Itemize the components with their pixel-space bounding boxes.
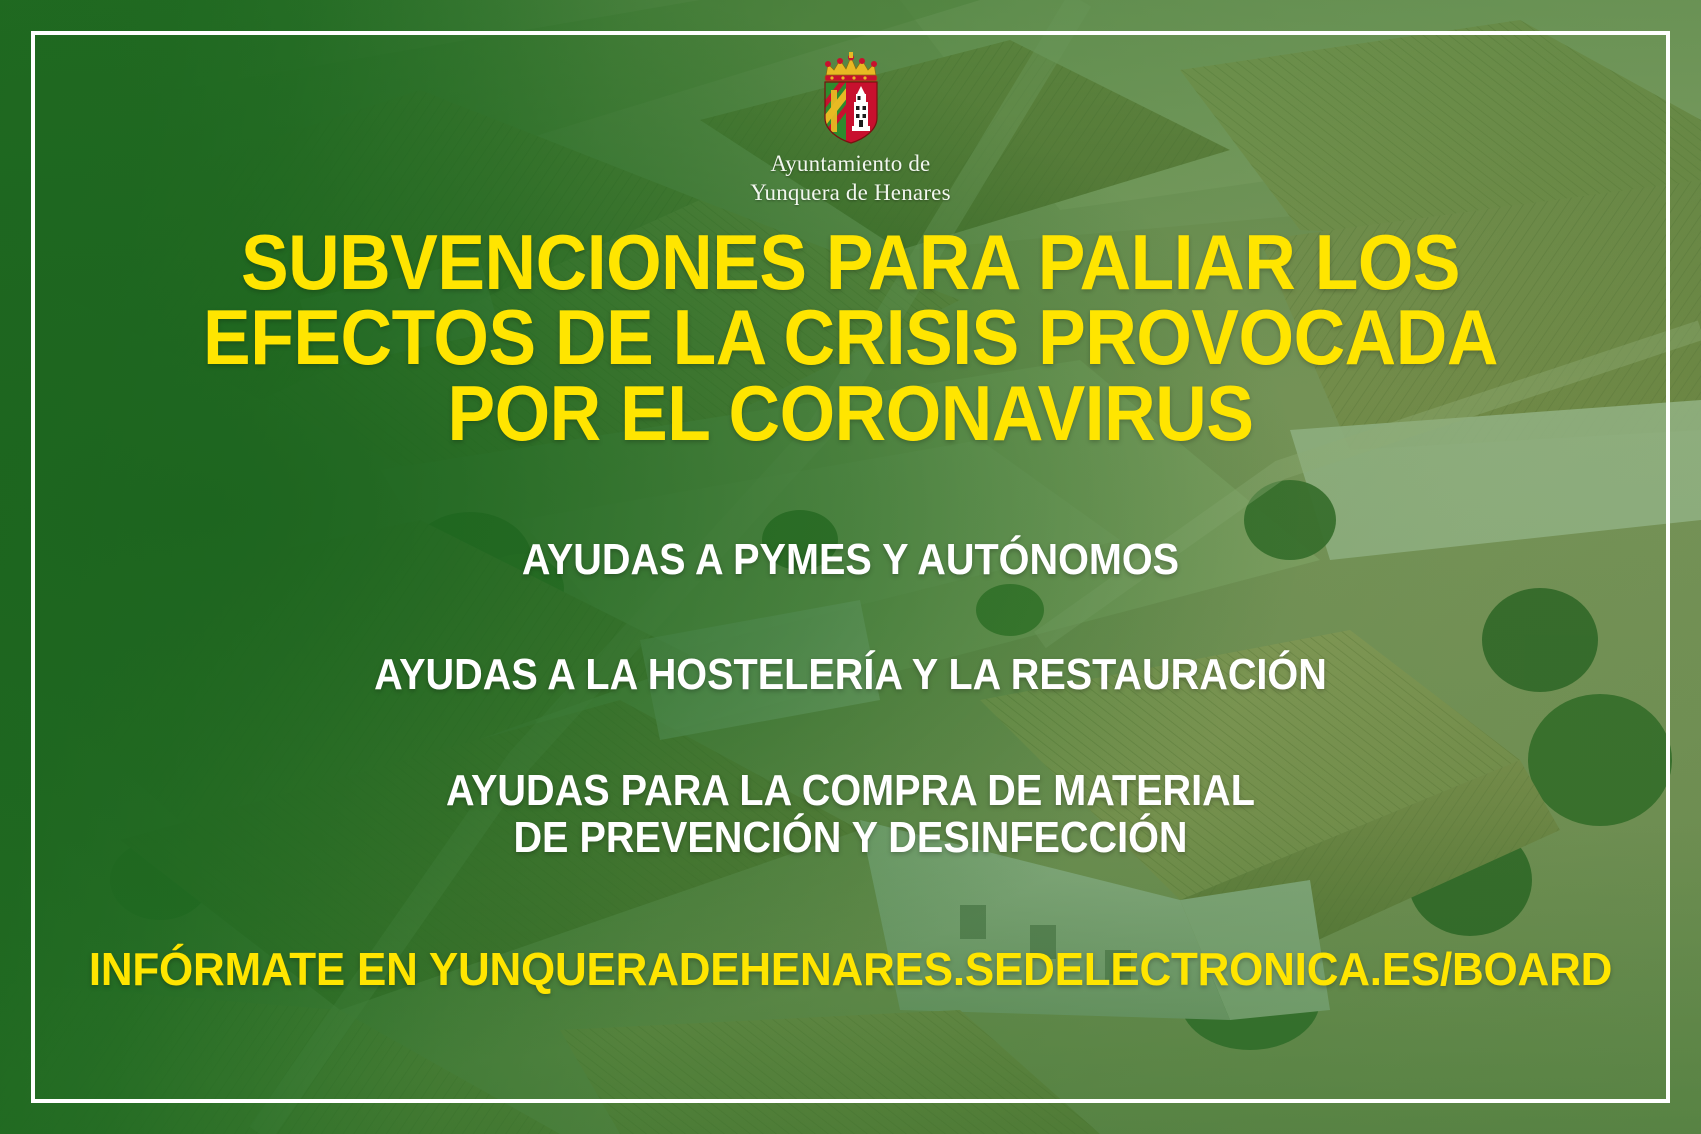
municipality-name-line-2: Yunquera de Henares [0,178,1701,207]
aid-item-material-prevencion-line-1: AYUDAS PARA LA COMPRA DE MATERIAL [85,768,1616,815]
headline-line-3: POR EL CORONAVIRUS [72,376,1628,451]
coat-of-arms-icon [816,52,886,144]
footer-call-to-action-url[interactable]: INFÓRMATE EN YUNQUERADEHENARES.SEDELECTR… [38,942,1662,996]
headline-line-1: SUBVENCIONES PARA PALIAR LOS [72,225,1628,300]
aid-item-material-prevencion: AYUDAS PARA LA COMPRA DE MATERIAL DE PRE… [85,768,1616,861]
aid-item-material-prevencion-line-2: DE PREVENCIÓN Y DESINFECCIÓN [85,815,1616,862]
municipality-name-line-1: Ayuntamiento de [0,149,1701,178]
poster-headline: SUBVENCIONES PARA PALIAR LOS EFECTOS DE … [72,225,1628,451]
aid-item-pymes-autonomos: AYUDAS A PYMES Y AUTÓNOMOS [85,537,1616,584]
aid-item-hosteleria-restauracion: AYUDAS A LA HOSTELERÍA Y LA RESTAURACIÓN [85,652,1616,699]
municipality-branding: Ayuntamiento de Yunquera de Henares [0,52,1701,208]
headline-line-2: EFECTOS DE LA CRISIS PROVOCADA [72,300,1628,375]
aid-item-pymes-autonomos-line-1: AYUDAS A PYMES Y AUTÓNOMOS [85,537,1616,584]
aid-item-hosteleria-restauracion-line-1: AYUDAS A LA HOSTELERÍA Y LA RESTAURACIÓN [85,652,1616,699]
municipality-name: Ayuntamiento de Yunquera de Henares [0,149,1701,208]
poster-canvas: Ayuntamiento de Yunquera de Henares SUBV… [0,0,1701,1134]
